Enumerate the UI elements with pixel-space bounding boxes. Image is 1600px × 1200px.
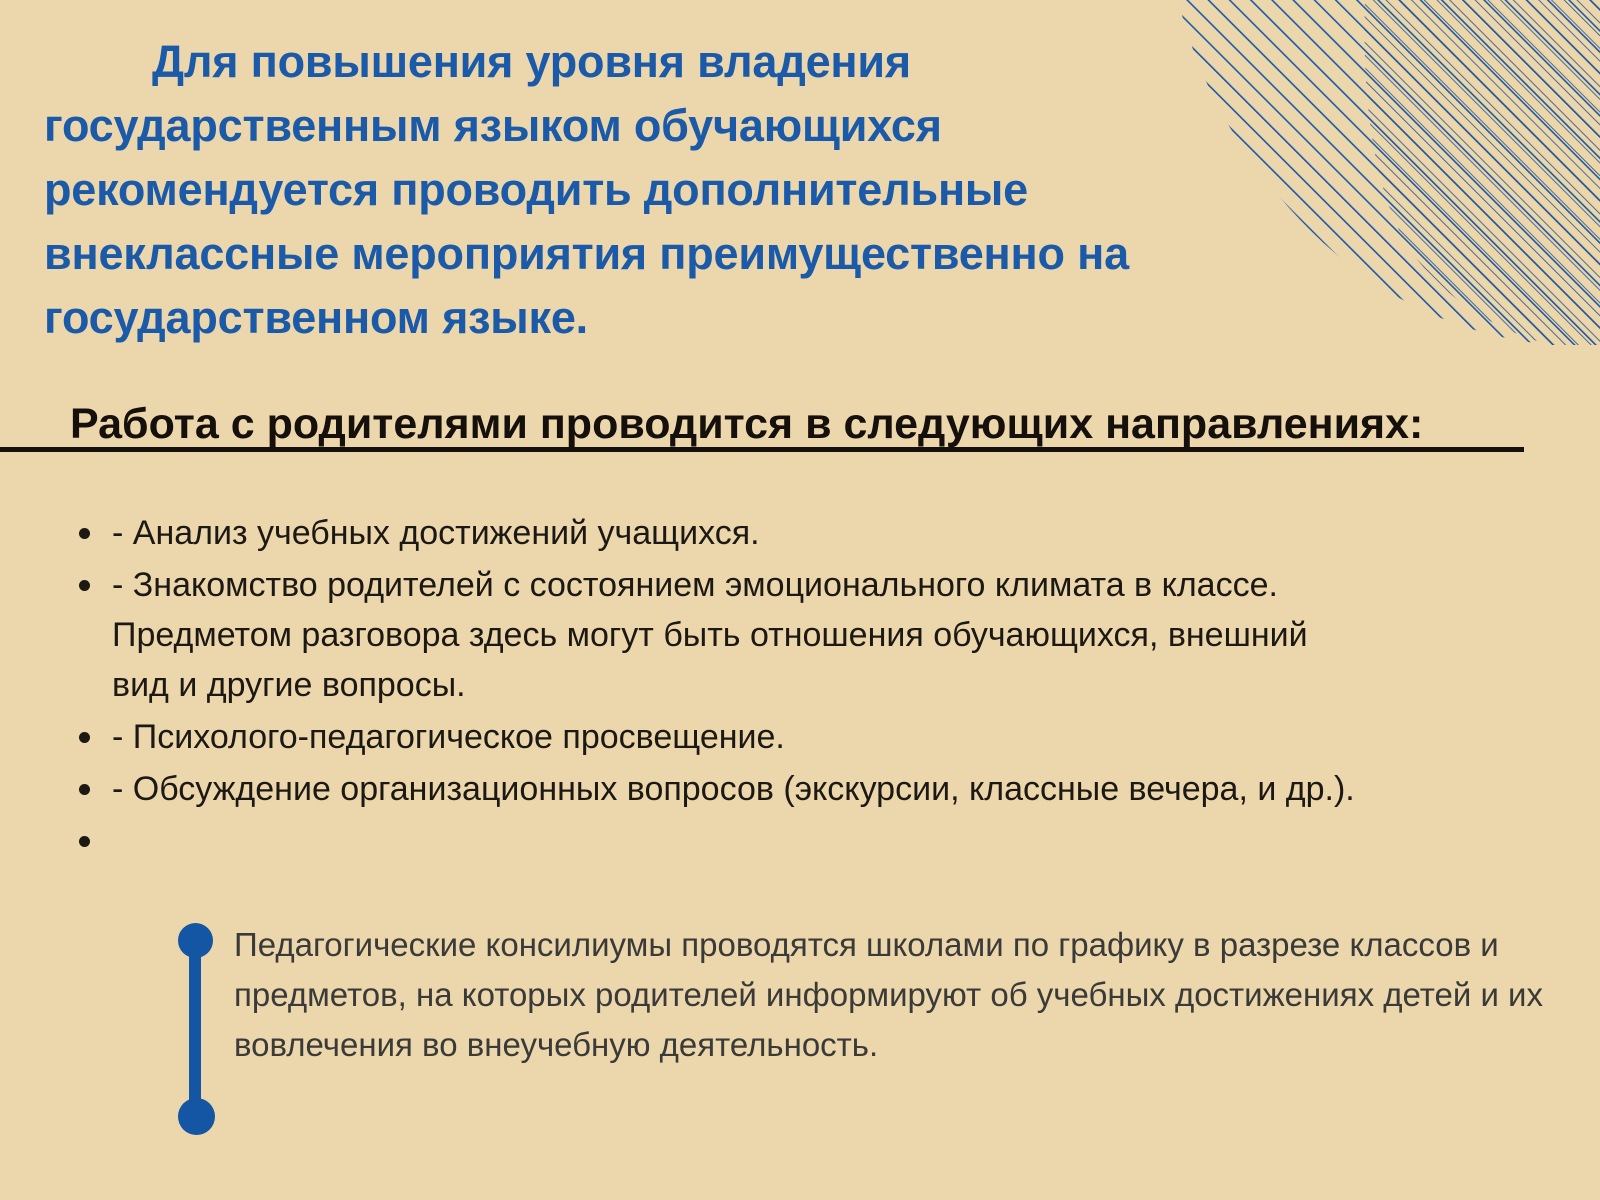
list-item: - Психолого-педагогическое просвещение. (70, 712, 1360, 762)
bullet-dot-icon (79, 580, 90, 591)
list-item-label: - Психолого-педагогическое просвещение. (112, 718, 785, 756)
callout-dot-top-icon (178, 923, 213, 958)
list-item: - Обсуждение организационных вопросов (э… (70, 764, 1360, 814)
subheading: Работа с родителями проводится в следующ… (0, 398, 1423, 450)
directions-bullet-list: - Анализ учебных достижений учащихся. - … (70, 508, 1360, 868)
callout-vertical-line (189, 940, 201, 1116)
list-item-label: - Анализ учебных достижений учащихся. (112, 514, 760, 552)
callout-dot-bottom-icon (178, 1098, 215, 1135)
slide-canvas: Для повышения уровня владения государств… (0, 0, 1600, 1200)
list-item-label: - Обсуждение организационных вопросов (э… (112, 770, 1355, 808)
subheading-block: Работа с родителями проводится в следующ… (0, 398, 1600, 460)
bullet-dot-icon (79, 836, 90, 847)
callout-text: Педагогические консилиумы проводятся шко… (234, 920, 1594, 1070)
list-item-label: - Знакомство родителей с состоянием эмоц… (112, 566, 1308, 704)
subheading-underline (0, 447, 1524, 452)
list-item: - Анализ учебных достижений учащихся. (70, 508, 1360, 558)
list-item: - Знакомство родителей с состоянием эмоц… (70, 560, 1360, 710)
bullet-dot-icon (79, 784, 90, 795)
page-title: Для повышения уровня владения государств… (44, 30, 1274, 350)
list-item-empty (70, 816, 1360, 866)
callout-block: Педагогические консилиумы проводятся шко… (178, 920, 1598, 1140)
bullet-dot-icon (79, 528, 90, 539)
bullet-dot-icon (79, 732, 90, 743)
